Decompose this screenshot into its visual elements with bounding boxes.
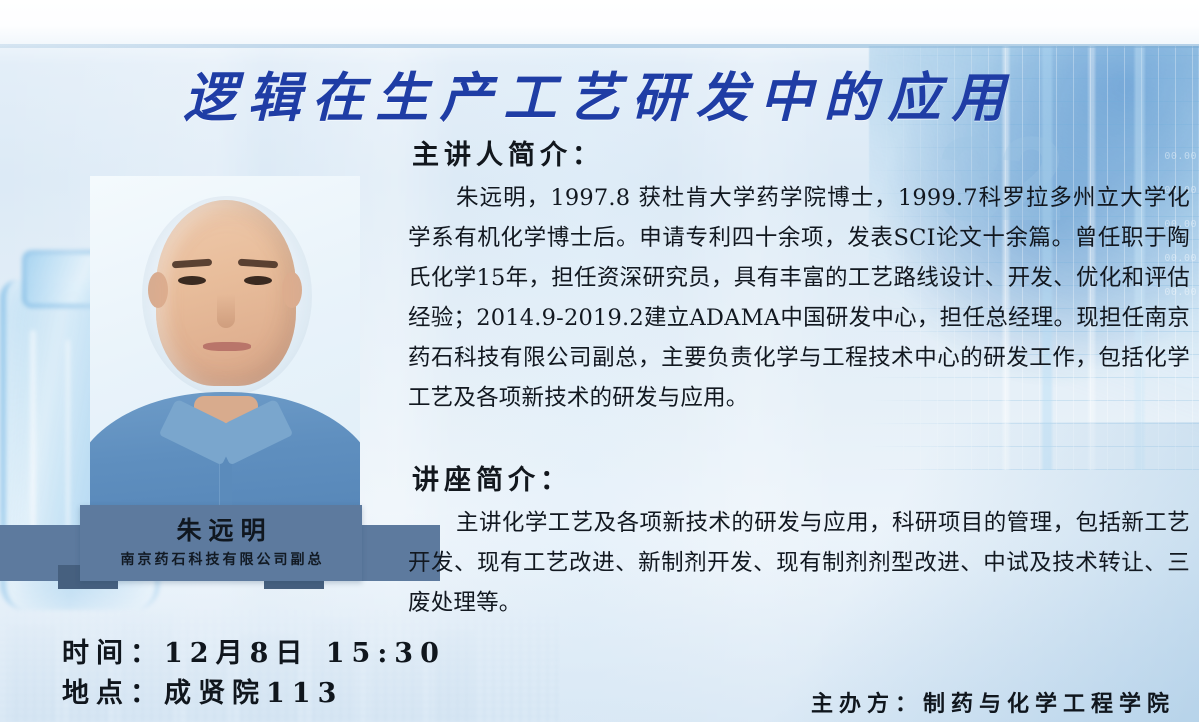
- lecture-poster: 32 00.00 00.00 00.00 00.00 00.00 逻辑在生产工艺…: [0, 0, 1199, 722]
- page-title: 逻辑在生产工艺研发中的应用: [0, 56, 1199, 132]
- event-time: 时间：12月8日 15:30: [62, 634, 446, 674]
- lecture-abstract-heading: 讲座简介：: [412, 458, 1190, 497]
- lecture-abstract-body: 主讲化学工艺及各项新技术的研发与应用，科研项目的管理，包括新工艺开发、现有工艺改…: [408, 503, 1190, 623]
- speaker-name-ribbon: 朱远明 南京药石科技有限公司副总: [0, 505, 460, 605]
- background-top-strip: [0, 0, 1199, 46]
- background-top-divider: [0, 44, 1199, 48]
- event-details: 时间：12月8日 15:30 地点：成贤院113: [62, 634, 446, 714]
- speaker-bio-body: 朱远明，1997.8 获杜肯大学药学院博士，1999.7科罗拉多州立大学化学系有…: [408, 178, 1190, 418]
- event-location: 地点：成贤院113: [62, 674, 446, 714]
- speaker-portrait-photo: [90, 176, 360, 526]
- speaker-affiliation: 南京药石科技有限公司副总: [118, 549, 325, 569]
- speaker-name: 朱远明: [169, 517, 272, 545]
- lecture-abstract-section: 讲座简介： 主讲化学工艺及各项新技术的研发与应用，科研项目的管理，包括新工艺开发…: [408, 458, 1190, 623]
- ribbon-center-plate: 朱远明 南京药石科技有限公司副总: [80, 505, 362, 581]
- speaker-bio-section: 主讲人简介： 朱远明，1997.8 获杜肯大学药学院博士，1999.7科罗拉多州…: [408, 133, 1190, 418]
- event-organizer: 主办方：制药与化学工程学院: [811, 686, 1175, 718]
- speaker-bio-heading: 主讲人简介：: [412, 133, 1190, 172]
